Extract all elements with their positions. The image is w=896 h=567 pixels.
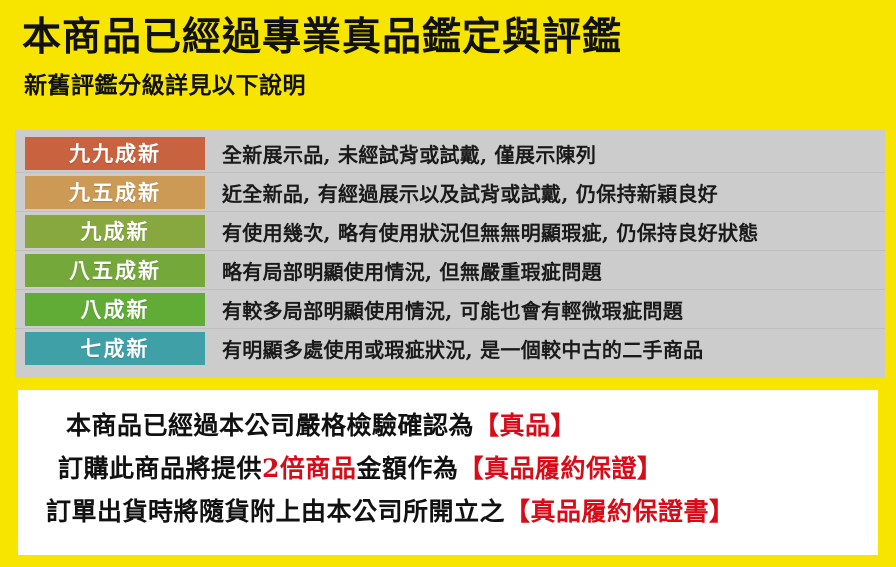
grade-table: 九九成新 全新展示品, 未經試背或試戴, 僅展示陳列 九五成新 近全新品, 有經… (15, 130, 885, 378)
grade-description: 有較多局部明顯使用情況, 可能也會有輕微瑕疵問題 (222, 295, 885, 324)
header: 本商品已經過專業真品鑑定與評鑑 新舊評鑑分級詳見以下說明 (22, 14, 872, 100)
guarantee-line: 訂單出貨時將隨貨附上由本公司所開立之【真品履約保證書】 (46, 490, 878, 533)
guarantee-line-suffix: 【真品履約保證】 (458, 454, 662, 483)
guarantee-line-middle: 金額作為 (356, 454, 458, 483)
grade-description: 全新展示品, 未經試背或試戴, 僅展示陳列 (222, 139, 885, 168)
status-badge: 九九成新 (25, 137, 205, 170)
guarantee-line-prefix: 本商品已經過本公司嚴格檢驗確認為 (66, 411, 474, 440)
guarantee-line-highlight: 2倍商品 (262, 454, 356, 483)
table-row: 九成新 有使用幾次, 略有使用狀況但無無明顯瑕疵, 仍保持良好狀態 (15, 212, 885, 251)
page-title: 本商品已經過專業真品鑑定與評鑑 (22, 14, 872, 60)
page-subtitle: 新舊評鑑分級詳見以下說明 (24, 72, 872, 100)
promo-banner: 本商品已經過專業真品鑑定與評鑑 新舊評鑑分級詳見以下說明 九九成新 全新展示品,… (0, 0, 896, 567)
table-row: 八五成新 略有局部明顯使用情況, 但無嚴重瑕疵問題 (15, 251, 885, 290)
grade-description: 略有局部明顯使用情況, 但無嚴重瑕疵問題 (222, 256, 885, 285)
grade-description: 近全新品, 有經過展示以及試背或試戴, 仍保持新穎良好 (222, 178, 885, 207)
guarantee-line-highlight: 【真品】 (474, 411, 576, 440)
status-badge: 九成新 (25, 215, 205, 248)
guarantee-line-prefix: 訂購此商品將提供 (58, 454, 262, 483)
grade-description: 有使用幾次, 略有使用狀況但無無明顯瑕疵, 仍保持良好狀態 (222, 217, 885, 246)
guarantee-line-prefix: 訂單出貨時將隨貨附上由本公司所開立之 (46, 497, 505, 526)
table-row: 九九成新 全新展示品, 未經試背或試戴, 僅展示陳列 (15, 134, 885, 173)
status-badge: 八成新 (25, 293, 205, 326)
guarantee-line: 訂購此商品將提供2倍商品金額作為【真品履約保證】 (58, 447, 878, 490)
status-badge: 八五成新 (25, 254, 205, 287)
status-badge: 七成新 (25, 332, 205, 365)
table-row: 九五成新 近全新品, 有經過展示以及試背或試戴, 仍保持新穎良好 (15, 173, 885, 212)
guarantee-line: 本商品已經過本公司嚴格檢驗確認為【真品】 (66, 404, 878, 447)
table-row: 七成新 有明顯多處使用或瑕疵狀況, 是一個較中古的二手商品 (15, 329, 885, 368)
guarantee-line-highlight: 【真品履約保證書】 (505, 497, 735, 526)
table-row: 八成新 有較多局部明顯使用情況, 可能也會有輕微瑕疵問題 (15, 290, 885, 329)
guarantee-box: 本商品已經過本公司嚴格檢驗確認為【真品】 訂購此商品將提供2倍商品金額作為【真品… (18, 390, 878, 555)
status-badge: 九五成新 (25, 176, 205, 209)
grade-description: 有明顯多處使用或瑕疵狀況, 是一個較中古的二手商品 (222, 334, 885, 363)
